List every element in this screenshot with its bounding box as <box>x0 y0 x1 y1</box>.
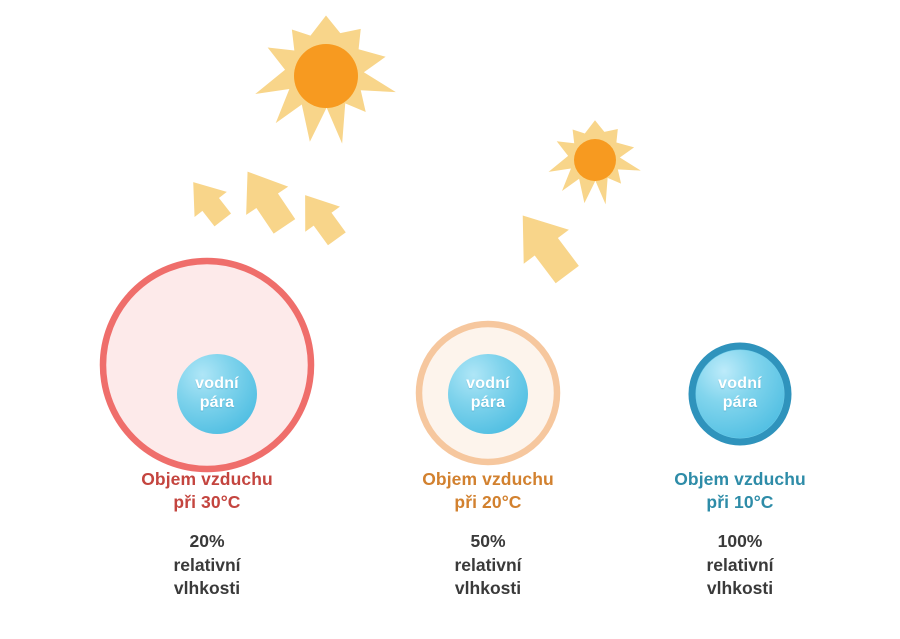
water-vapor-circle-col-10c <box>696 350 784 438</box>
arrow-3-shape <box>288 183 354 252</box>
humidity-percent: 50% <box>358 530 618 554</box>
arrow-3 <box>288 183 354 252</box>
arrow-2 <box>227 157 306 240</box>
arrow-1-shape <box>177 169 239 232</box>
infographic-canvas: vodní pára vodní pára vodní pára Objem v… <box>0 0 900 639</box>
suns-group <box>255 15 641 204</box>
caption-20c: Objem vzduchu při 20°C 50% relativní vlh… <box>358 468 618 601</box>
humidity-percent: 100% <box>610 530 870 554</box>
caption-10c: Objem vzduchu při 10°C 100% relativní vl… <box>610 468 870 601</box>
caption-humidity-10c: 100% relativní vlhkosti <box>610 530 870 601</box>
caption-title-line1: Objem vzduchu <box>358 468 618 491</box>
humidity-word-humidity: vlhkosti <box>77 577 337 601</box>
caption-title-30c: Objem vzduchu při 30°C <box>77 468 337 514</box>
caption-title-line2: při 30°C <box>77 491 337 514</box>
arrow-2-shape <box>227 157 306 240</box>
caption-title-10c: Objem vzduchu při 10°C <box>610 468 870 514</box>
caption-humidity-30c: 20% relativní vlhkosti <box>77 530 337 601</box>
air-volume-circles-group <box>103 261 788 469</box>
water-vapor-circle-col-30c <box>177 354 257 434</box>
col-10c-circles <box>692 346 788 442</box>
arrow-4-shape <box>500 198 590 291</box>
sun-small <box>549 120 641 204</box>
humidity-word-humidity: vlhkosti <box>358 577 618 601</box>
humidity-percent: 20% <box>77 530 337 554</box>
caption-title-20c: Objem vzduchu při 20°C <box>358 468 618 514</box>
caption-title-line1: Objem vzduchu <box>77 468 337 491</box>
caption-title-line2: při 10°C <box>610 491 870 514</box>
caption-humidity-20c: 50% relativní vlhkosti <box>358 530 618 601</box>
sun-small-core <box>574 139 616 181</box>
arrow-4 <box>500 198 590 291</box>
caption-title-line1: Objem vzduchu <box>610 468 870 491</box>
sun-large <box>255 15 396 143</box>
sun-large-core <box>294 44 358 108</box>
col-30c-circles <box>103 261 311 469</box>
arrow-1 <box>177 169 239 232</box>
col-20c-circles <box>419 324 557 462</box>
caption-30c: Objem vzduchu při 30°C 20% relativní vlh… <box>77 468 337 601</box>
humidity-word-humidity: vlhkosti <box>610 577 870 601</box>
water-vapor-circle-col-20c <box>448 354 528 434</box>
humidity-word-relative: relativní <box>358 554 618 578</box>
caption-title-line2: při 20°C <box>358 491 618 514</box>
humidity-word-relative: relativní <box>77 554 337 578</box>
humidity-word-relative: relativní <box>610 554 870 578</box>
